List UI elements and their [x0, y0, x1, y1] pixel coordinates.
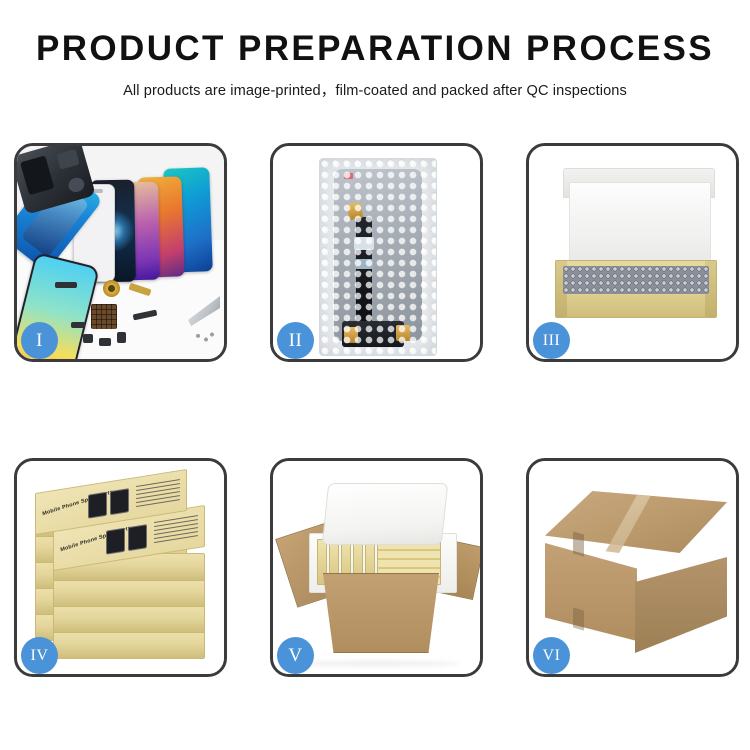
step-badge-2: II — [277, 322, 314, 359]
screws-icon — [194, 331, 214, 343]
carton-shadow — [293, 661, 460, 666]
box-label-screen-4 — [110, 488, 129, 515]
carton-seam-bottom — [573, 607, 584, 630]
step-badge-4: IV — [21, 637, 58, 674]
foam-lid — [322, 483, 449, 545]
gold-tab-1 — [347, 202, 364, 220]
carton-front-face — [545, 543, 637, 641]
gold-tab-2 — [344, 327, 358, 343]
step-panel-3[interactable]: III — [526, 143, 739, 362]
box-stack-icon: Mobile Phone Spare Parts Mobile Phone Sp… — [25, 481, 224, 661]
part-chip-3 — [117, 332, 126, 343]
wireless-coil-icon — [103, 280, 120, 297]
page-header: PRODUCT PREPARATION PROCESS All products… — [0, 0, 750, 100]
step-panel-1[interactable]: I — [14, 143, 227, 362]
step-panel-4[interactable]: Mobile Phone Spare Parts Mobile Phone Sp… — [14, 458, 227, 677]
box-label-screen-2 — [128, 524, 147, 551]
lcd-screen-icon — [334, 169, 422, 341]
product-preparation-process-page: PRODUCT PREPARATION PROCESS All products… — [0, 0, 750, 750]
part-chip-4 — [71, 322, 85, 328]
chip-grid-icon — [91, 304, 117, 329]
carton-seam-top — [573, 531, 584, 556]
housing-camera — [67, 176, 86, 194]
page-subtitle: All products are image-printed，film-coat… — [0, 79, 750, 100]
step-badge-3: III — [533, 322, 570, 359]
step-badge-5: V — [277, 637, 314, 674]
process-steps-grid: I II — [14, 143, 736, 675]
stack-box-front-5 — [53, 631, 205, 659]
flex-connector-2 — [355, 259, 373, 269]
mailer-tray — [555, 260, 717, 318]
box-label-screen-3 — [88, 492, 107, 519]
box-label-spec-lines-front — [154, 515, 198, 546]
open-carton-icon — [291, 479, 469, 659]
stack-box-front-4 — [53, 605, 205, 633]
flex-connector-1 — [354, 237, 374, 250]
gold-tab-3 — [396, 325, 410, 341]
housing-battery — [20, 155, 54, 195]
stack-box-front-3 — [53, 579, 205, 607]
red-label-tab — [344, 173, 353, 179]
box-label-spec-lines-back — [136, 479, 180, 510]
box-label-screen-1 — [106, 528, 125, 555]
bubble-wrap-bag-icon — [319, 158, 437, 356]
mailer-box-icon — [553, 168, 718, 318]
step-badge-1: I — [21, 322, 58, 359]
step-badge-6: VI — [533, 637, 570, 674]
step-panel-6[interactable]: VI — [526, 458, 739, 677]
carton-body — [315, 573, 447, 653]
part-chip-2 — [99, 338, 111, 346]
sealed-carton-icon — [545, 491, 727, 641]
part-chip-1 — [83, 334, 93, 343]
screen-flex-cable-icon — [356, 217, 372, 325]
part-strip-1 — [55, 282, 77, 288]
foam-sheet — [569, 182, 711, 270]
carton-side-face — [635, 557, 727, 653]
step-panel-5[interactable]: V — [270, 458, 483, 677]
housing-board — [56, 149, 80, 170]
step-panel-2[interactable]: II — [270, 143, 483, 362]
page-title: PRODUCT PREPARATION PROCESS — [0, 31, 750, 68]
bubble-wrapped-contents — [563, 266, 709, 294]
